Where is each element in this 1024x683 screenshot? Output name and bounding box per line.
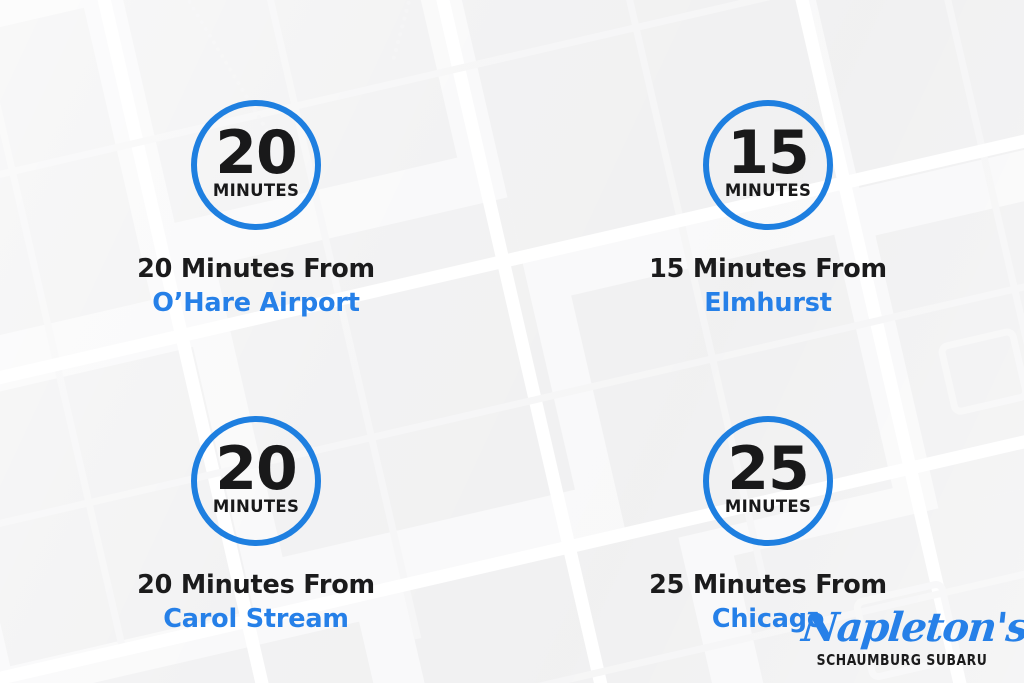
caption-primary: 25 Minutes From [649,570,887,600]
drive-time-card-carol-stream: 20 MINUTES 20 Minutes From Carol Stream [0,344,512,682]
caption-primary: 20 Minutes From [137,254,375,284]
card-caption: 20 Minutes From O’Hare Airport [137,254,375,318]
drive-time-card-elmhurst: 15 MINUTES 15 Minutes From Elmhurst [512,6,1024,344]
badge-number: 20 [215,128,297,180]
logo-wordmark: Napleton's [800,608,1004,648]
card-caption: 15 Minutes From Elmhurst [649,254,887,318]
minutes-badge: 25 MINUTES [703,416,833,546]
caption-primary: 20 Minutes From [137,570,375,600]
drive-time-grid: 20 MINUTES 20 Minutes From O’Hare Airpor… [0,0,1024,683]
drive-times-graphic: 20 MINUTES 20 Minutes From O’Hare Airpor… [0,0,1024,683]
minutes-badge: 20 MINUTES [191,100,321,230]
logo-subtitle: SCHAUMBURG SUBARU [810,651,994,669]
badge-unit-label: MINUTES [213,181,299,200]
dealer-logo: Napleton's SCHAUMBURG SUBARU [802,608,1002,669]
caption-location: Carol Stream [137,604,375,634]
badge-number: 20 [215,444,297,496]
caption-primary: 15 Minutes From [649,254,887,284]
caption-location: O’Hare Airport [137,288,375,318]
card-caption: 20 Minutes From Carol Stream [137,570,375,634]
caption-location: Elmhurst [649,288,887,318]
badge-unit-label: MINUTES [725,497,811,516]
badge-number: 25 [727,444,809,496]
badge-unit-label: MINUTES [213,497,299,516]
badge-unit-label: MINUTES [725,181,811,200]
drive-time-card-ohare: 20 MINUTES 20 Minutes From O’Hare Airpor… [0,6,512,344]
badge-number: 15 [727,128,809,180]
minutes-badge: 15 MINUTES [703,100,833,230]
minutes-badge: 20 MINUTES [191,416,321,546]
